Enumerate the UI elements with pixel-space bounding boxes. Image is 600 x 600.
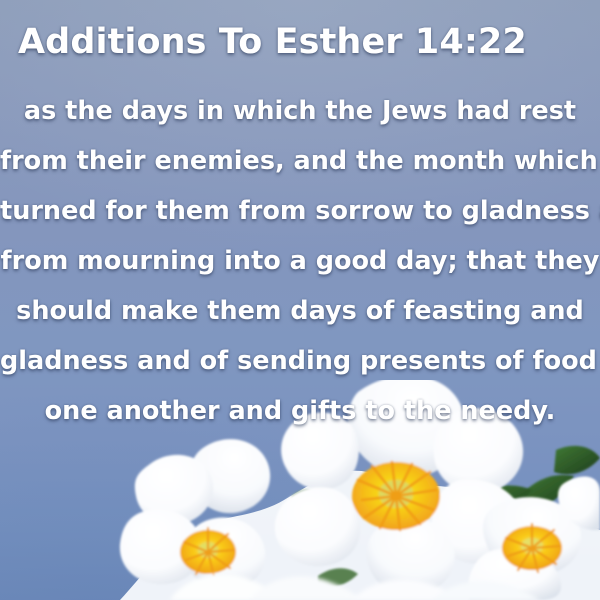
verse-line: should make them days of feasting and [0,286,600,336]
verse-line: as the days in which the Jews had rest [0,86,600,136]
page-title: Additions To Esther 14:22 [0,0,600,62]
verse-line: gladness and of sending presents of food… [0,336,600,386]
verse-line: from mourning into a good day; that they [0,236,600,286]
verse-text-block: Additions To Esther 14:22 as the days in… [0,0,600,436]
verse-body: as the days in which the Jews had rest f… [0,62,600,436]
verse-line: turned for them from sorrow to gladness … [0,186,600,236]
verse-line: one another and gifts to the needy. [0,386,600,436]
verse-line: from their enemies, and the month which … [0,136,600,186]
flower-center [352,462,440,530]
scripture-verse-card: Additions To Esther 14:22 as the days in… [0,0,600,600]
